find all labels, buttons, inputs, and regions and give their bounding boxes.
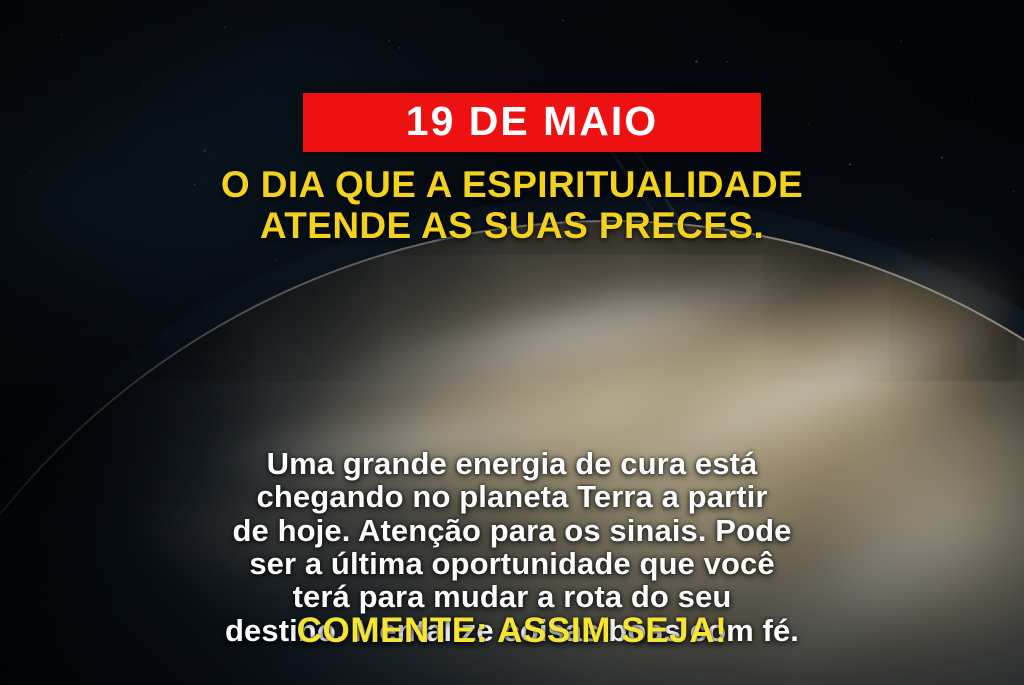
headline: O DIA QUE A ESPIRITUALIDADE ATENDE AS SU…: [0, 165, 1024, 246]
body-line-2: chegando no planeta Terra a partir: [48, 480, 976, 513]
poster-content: 19 DE MAIO O DIA QUE A ESPIRITUALIDADE A…: [0, 0, 1024, 685]
call-to-action-text: COMENTE: ASSIM SEJA!: [0, 613, 1024, 648]
body-line-3: de hoje. Atenção para os sinais. Pode: [48, 514, 976, 547]
date-banner: 19 DE MAIO: [303, 93, 761, 152]
body-line-5: terá para mudar a rota do seu: [48, 580, 976, 613]
date-banner-text: 19 DE MAIO: [406, 101, 658, 142]
body-line-1: Uma grande energia de cura está: [48, 447, 976, 480]
poster-canvas: 19 DE MAIO O DIA QUE A ESPIRITUALIDADE A…: [0, 0, 1024, 685]
headline-line-1: O DIA QUE A ESPIRITUALIDADE: [40, 165, 984, 206]
headline-line-2: ATENDE AS SUAS PRECES.: [40, 206, 984, 247]
body-line-4: ser a última oportunidade que você: [48, 547, 976, 580]
